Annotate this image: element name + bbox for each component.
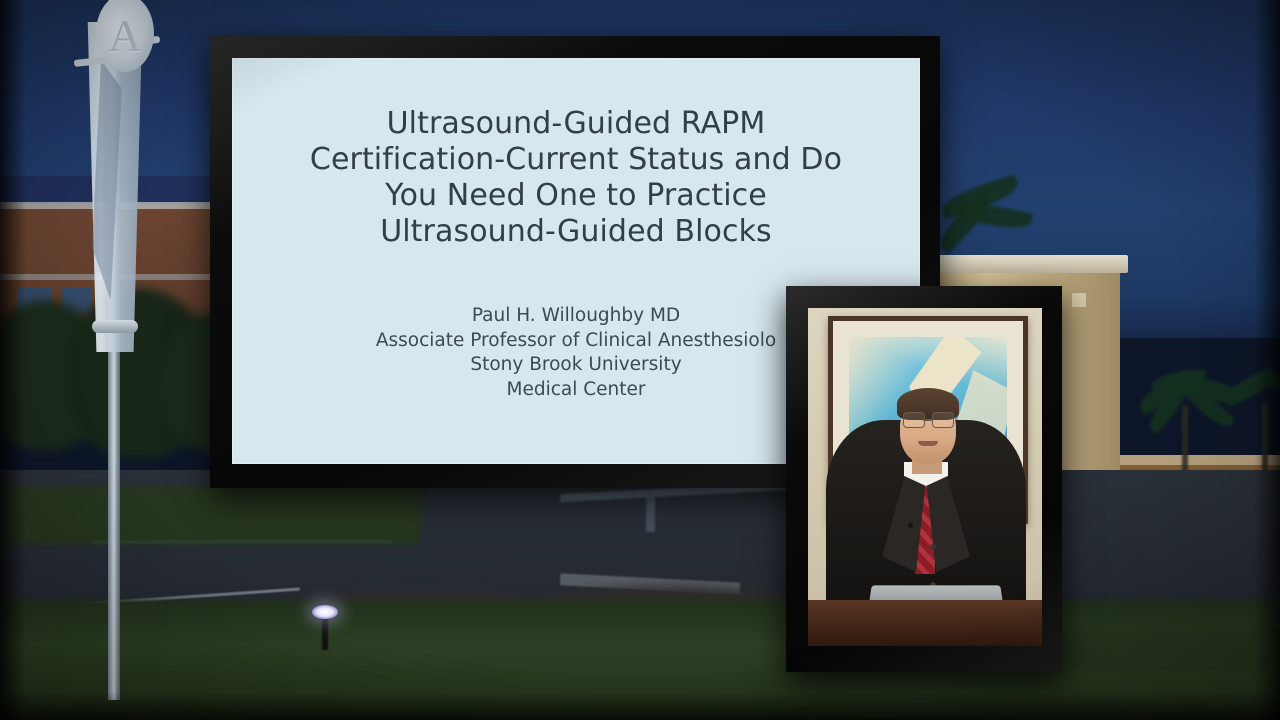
slide-title-line: Ultrasound-Guided RAPM: [260, 106, 892, 142]
entry-pillar-cap: [922, 255, 1128, 273]
podium: [808, 600, 1042, 646]
banner-letter: A: [96, 0, 154, 70]
landscape-spotlight: [312, 605, 338, 619]
lawn-right: [1050, 630, 1280, 670]
glasses-icon: [903, 412, 925, 428]
glasses-bridge: [923, 419, 932, 421]
lamp-post-collar: [92, 320, 138, 333]
slide-title-line: Certification-Current Status and Do: [260, 142, 892, 178]
suit-button: [930, 544, 936, 550]
slide-title-line: Ultrasound-Guided Blocks: [260, 214, 892, 250]
presenter-video-pip[interactable]: [786, 286, 1062, 672]
presenter-mouth: [918, 441, 938, 446]
pillar-accent-tile: [1072, 293, 1086, 307]
video-frame: A Ultrasound-Guided RAPM Certification-C…: [0, 0, 1280, 720]
slide-title: Ultrasound-Guided RAPM Certification-Cur…: [232, 58, 920, 250]
handrail-post: [646, 492, 655, 532]
glasses-icon: [932, 412, 954, 428]
planter-shrubs: [0, 486, 420, 544]
landscape-light-stem: [322, 616, 328, 650]
pip-surface: [808, 308, 1042, 646]
slide-title-line: You Need One to Practice: [260, 178, 892, 214]
lapel-microphone: [908, 523, 913, 528]
